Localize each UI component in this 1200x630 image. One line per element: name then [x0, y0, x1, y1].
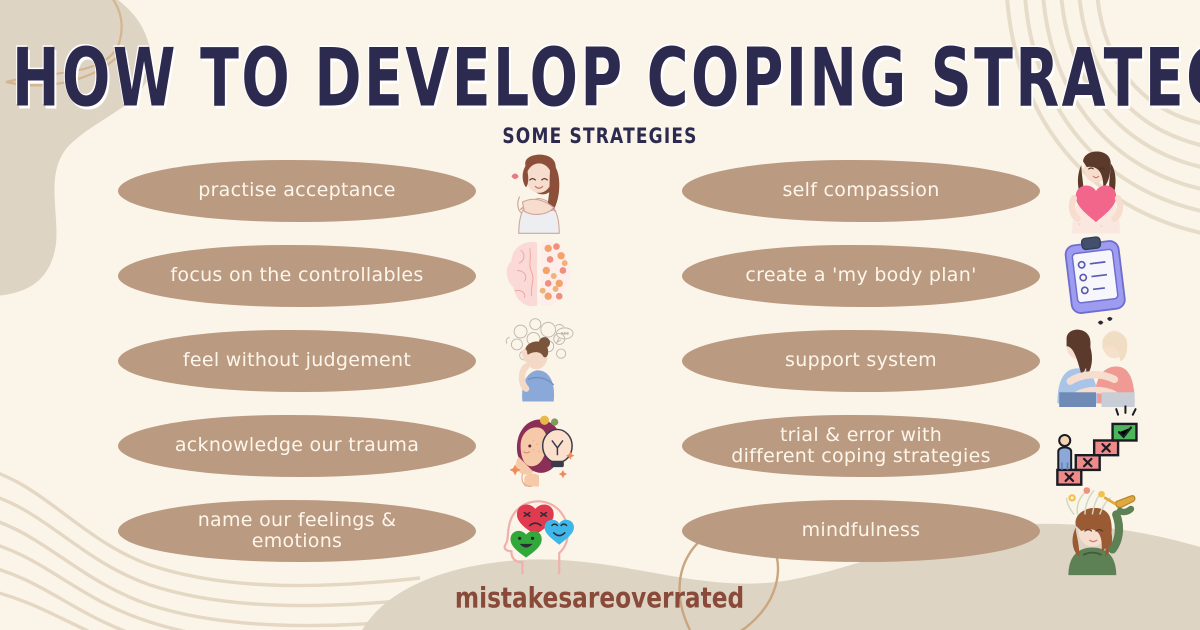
strategy-row: acknowledge our trauma	[118, 403, 588, 488]
clipboard-checklist-icon	[1050, 230, 1142, 322]
strategy-row: focus on the controllables	[118, 233, 588, 318]
strategy-row: practise acceptance	[118, 148, 588, 233]
stairs-x-check-icon	[1050, 400, 1142, 492]
strategy-label: practise acceptance	[198, 181, 396, 201]
strategies-column-right: self compassion	[682, 148, 1182, 573]
page-subtitle: SOME STRATEGIES	[0, 124, 1200, 149]
strategy-pill[interactable]: feel without judgement	[118, 330, 476, 392]
strategy-pill[interactable]: support system	[682, 330, 1040, 392]
header: HOW TO DEVELOP COPING STRATEGIES SOME ST…	[0, 38, 1200, 144]
strategy-pill[interactable]: acknowledge our trauma	[118, 415, 476, 477]
strategy-label: create a 'my body plan'	[745, 266, 976, 286]
strategy-row: name our feelings & emotions	[118, 488, 588, 573]
brain-flowers-icon	[493, 230, 585, 322]
strategy-row: support system	[682, 318, 1182, 403]
self-hug-woman-icon	[493, 145, 585, 237]
strategy-row: create a 'my body plan'	[682, 233, 1182, 318]
strategy-pill[interactable]: name our feelings & emotions	[118, 500, 476, 562]
head-lightbulb-icon	[493, 400, 585, 492]
strategy-label: support system	[785, 351, 937, 371]
strategy-label: name our feelings & emotions	[198, 510, 397, 551]
strategy-pill[interactable]: practise acceptance	[118, 160, 476, 222]
strategy-row: mindfulness	[682, 488, 1182, 573]
strategy-pill[interactable]: mindfulness	[682, 500, 1040, 562]
infographic-canvas: HOW TO DEVELOP COPING STRATEGIES SOME ST…	[0, 0, 1200, 630]
overthinking-woman-icon	[493, 315, 585, 407]
head-emotion-hearts-icon	[493, 485, 585, 577]
page-title: HOW TO DEVELOP COPING STRATEGIES	[12, 38, 1188, 118]
strategy-label: mindfulness	[802, 521, 921, 541]
two-people-hugging-icon	[1050, 315, 1142, 407]
strategy-label: feel without judgement	[183, 351, 411, 371]
strategy-label: self compassion	[782, 181, 939, 201]
footer: mistakesareoverrated	[0, 583, 1200, 612]
strategies-column-left: practise acceptance	[118, 148, 588, 573]
strategy-label: acknowledge our trauma	[175, 436, 419, 456]
strategy-row: trial & error with different coping stra…	[682, 403, 1182, 488]
woman-watering-flowers-head-icon	[1050, 485, 1142, 577]
strategy-row: self compassion	[682, 148, 1182, 233]
strategy-label: focus on the controllables	[170, 266, 423, 286]
woman-hugging-heart-icon	[1050, 145, 1142, 237]
brand-handle: mistakesareoverrated	[455, 581, 744, 614]
strategy-row: feel without judgement	[118, 318, 588, 403]
strategy-pill[interactable]: self compassion	[682, 160, 1040, 222]
strategy-label: trial & error with different coping stra…	[731, 425, 991, 466]
strategy-pill[interactable]: focus on the controllables	[118, 245, 476, 307]
strategy-pill[interactable]: create a 'my body plan'	[682, 245, 1040, 307]
strategy-pill[interactable]: trial & error with different coping stra…	[682, 415, 1040, 477]
